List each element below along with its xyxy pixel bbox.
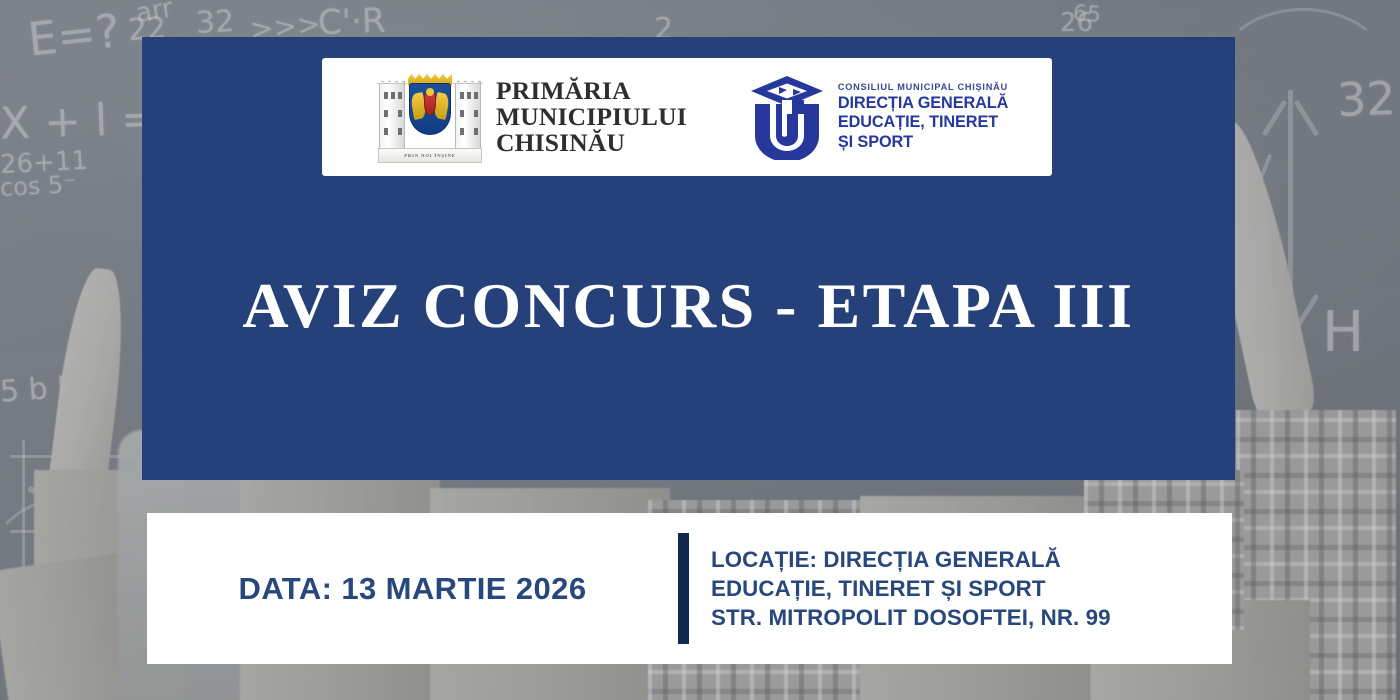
chisinau-coat-of-arms-icon: PRIN NOI ÎNȘINE: [378, 71, 482, 163]
primaria-line-1: PRIMĂRIA: [496, 78, 687, 104]
primaria-wordmark: PRIMĂRIA MUNICIPIULUI CHISINĂU: [496, 78, 687, 156]
navy-hero-panel: PRIN NOI ÎNȘINE PRIMĂRIA MUNICIPIULUI CH…: [142, 37, 1235, 480]
primaria-line-3: CHISINĂU: [496, 130, 687, 156]
event-location: LOCAȚIE: DIRECȚIA GENERALĂ EDUCAȚIE, TIN…: [711, 545, 1111, 633]
dgets-line-1: DIRECȚIA GENERALĂ: [838, 94, 1008, 113]
location-line-2: EDUCAȚIE, TINERET ȘI SPORT: [711, 574, 1111, 603]
page-title: AVIZ CONCURS - ETAPA III: [142, 269, 1235, 343]
primaria-logo: PRIN NOI ÎNȘINE PRIMĂRIA MUNICIPIULUI CH…: [378, 71, 687, 163]
event-date: DATA: 13 MARTIE 2026: [147, 571, 678, 607]
tower-right-icon: [455, 81, 481, 149]
dgets-wordmark: CONSILIUL MUNICIPAL CHIȘINĂU DIRECȚIA GE…: [838, 82, 1008, 151]
dgets-kicker: CONSILIUL MUNICIPAL CHIȘINĂU: [838, 82, 1008, 92]
motto-banner: PRIN NOI ÎNȘINE: [378, 148, 482, 163]
eagle-head-icon: [426, 88, 434, 96]
tower-left-icon: [379, 81, 405, 149]
graduation-cap-monogram-icon: [749, 74, 825, 160]
dgets-line-3: ȘI SPORT: [838, 133, 1008, 152]
motto-text: PRIN NOI ÎNȘINE: [404, 153, 456, 158]
location-line-3: STR. MITROPOLIT DOSOFTEI, NR. 99: [711, 603, 1111, 632]
primaria-line-2: MUNICIPIULUI: [496, 104, 687, 130]
logo-box: PRIN NOI ÎNȘINE PRIMĂRIA MUNICIPIULUI CH…: [322, 58, 1052, 176]
vertical-divider: [678, 533, 689, 644]
eagle-body-icon: [424, 93, 436, 115]
location-line-1: LOCAȚIE: DIRECȚIA GENERALĂ: [711, 545, 1111, 574]
info-band: DATA: 13 MARTIE 2026 LOCAȚIE: DIRECȚIA G…: [147, 513, 1232, 664]
dgets-line-2: EDUCAȚIE, TINERET: [838, 113, 1008, 132]
dgets-logo: CONSILIUL MUNICIPAL CHIȘINĂU DIRECȚIA GE…: [749, 74, 1008, 160]
